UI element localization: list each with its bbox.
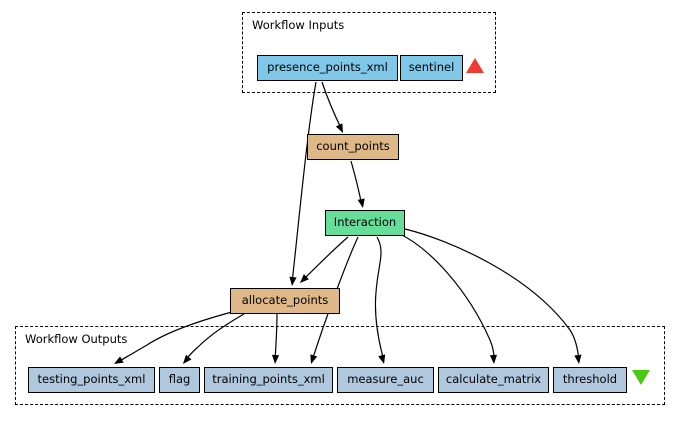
node-threshold[interactable]: threshold	[553, 367, 627, 393]
workflow-diagram-canvas: Workflow Inputs Workflow Outputs presenc…	[0, 0, 677, 421]
edge-count_points-to-Interaction	[351, 161, 362, 206]
node-count-points[interactable]: count_points	[307, 134, 399, 160]
arrowhead-Interaction-to-allocate_points	[300, 274, 309, 283]
node-testing-points-xml[interactable]: testing_points_xml	[28, 367, 155, 393]
cluster-workflow-outputs-label: Workflow Outputs	[25, 334, 127, 346]
node-allocate-points[interactable]: allocate_points	[230, 288, 340, 314]
arrowhead-presence_points_xml-to-count_points	[336, 123, 343, 133]
input-marker-triangle-up-icon	[466, 58, 484, 73]
edge-Interaction-to-allocate_points	[302, 237, 348, 281]
arrowhead-count_points-to-Interaction	[358, 198, 365, 208]
node-flag[interactable]: flag	[159, 367, 200, 393]
node-presence-points-xml[interactable]: presence_points_xml	[257, 55, 398, 81]
node-training-points-xml[interactable]: training_points_xml	[204, 367, 333, 393]
node-calculate-matrix[interactable]: calculate_matrix	[438, 367, 549, 393]
cluster-workflow-inputs-label: Workflow Inputs	[252, 20, 344, 32]
node-sentinel[interactable]: sentinel	[400, 55, 463, 81]
edge-presence_points_xml-to-allocate_points	[292, 82, 316, 283]
arrowhead-presence_points_xml-to-allocate_points	[289, 277, 296, 286]
node-interaction[interactable]: Interaction	[325, 210, 405, 236]
node-measure-auc[interactable]: measure_auc	[337, 367, 434, 393]
output-marker-triangle-down-icon	[632, 370, 650, 385]
